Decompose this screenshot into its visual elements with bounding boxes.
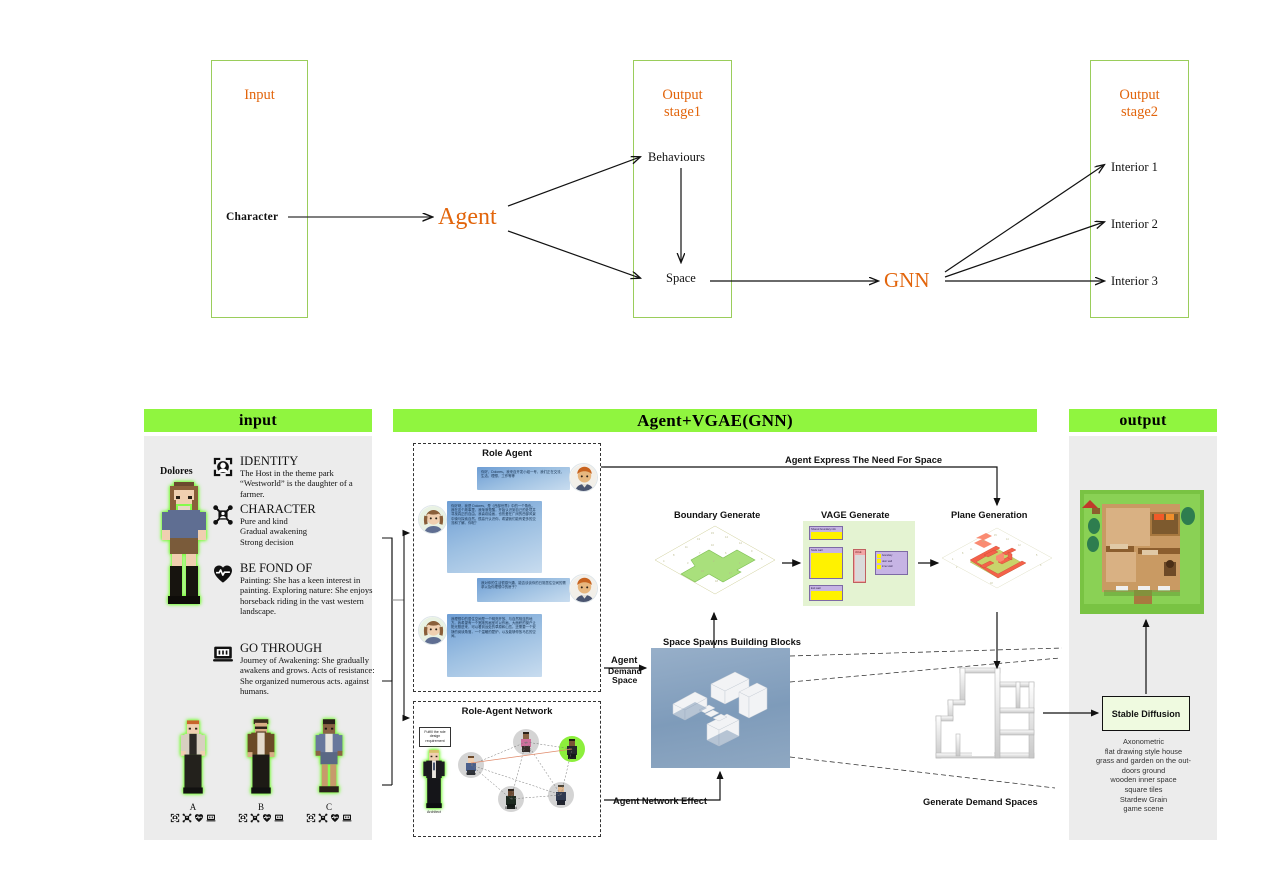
role-agent-network-title: Role-Agent Network xyxy=(414,706,600,717)
roster-item-c[interactable]: C xyxy=(294,718,364,823)
heart-pulse-icon xyxy=(194,813,204,823)
vage-legend-0: boundary xyxy=(882,554,892,557)
svg-text:12: 12 xyxy=(739,541,742,545)
band-header-middle: Agent+VGAE(GNN) xyxy=(393,409,1037,432)
generate-demand-spaces-floorplan xyxy=(912,648,1057,793)
svg-text:3: 3 xyxy=(687,561,689,565)
svg-text:8: 8 xyxy=(962,552,964,555)
attr-go-through-body: Journey of Awakening: She gradually awak… xyxy=(240,655,375,697)
band-header-output: output xyxy=(1069,409,1217,432)
chat-bubble-3[interactable]: 我对你的生活很感兴趣，能否谈谈你的日常居住空间的需求以及你理想中的房子？ xyxy=(477,578,570,602)
node-interior-2: Interior 2 xyxy=(1111,217,1158,232)
label-agent-demand-line3: Space xyxy=(612,675,637,685)
roster-item-a[interactable]: A xyxy=(158,718,228,823)
vage-legend-1: door wall xyxy=(882,560,892,563)
network-node-maeve[interactable]: Maeve xyxy=(458,752,484,778)
top-output-stage1-title: Output stage1 xyxy=(634,87,731,121)
journal-icon xyxy=(206,813,216,823)
prompt-line-1: flat drawing style house xyxy=(1073,747,1214,757)
architect-sprite xyxy=(419,748,449,810)
svg-text:18: 18 xyxy=(990,582,993,585)
chat-bubble-1[interactable]: 你好，Dolores。我来自开发小组一号，我们正在交流，生活，理想，工作等等 xyxy=(477,467,570,490)
figure-canvas: Input Output stage1 Output stage2 Charac… xyxy=(0,0,1267,896)
attr-identity-title: IDENTITY xyxy=(240,454,298,469)
svg-text:4: 4 xyxy=(663,559,665,563)
svg-text:3: 3 xyxy=(1040,564,1042,567)
identity-icon xyxy=(170,813,180,823)
prompt-line-5: square tiles xyxy=(1073,785,1214,795)
vage-card-title-0: Shared boundary info xyxy=(810,527,842,531)
label-agent-network-effect: Agent Network Effect xyxy=(613,796,707,806)
node-behaviours: Behaviours xyxy=(648,150,705,165)
network-node-ford[interactable]: Ford xyxy=(548,782,574,808)
attr-character-title: CHARACTER xyxy=(240,502,316,517)
identity-icon xyxy=(212,456,234,478)
attr-go-through-title: GO THROUGH xyxy=(240,641,322,656)
roster-label-b: B xyxy=(226,802,296,812)
attr-be-fond-of-body: Painting: She has a keen interest in pai… xyxy=(240,575,375,617)
stage1-title-line1: Output xyxy=(662,87,702,103)
stage1-title-line2: stage1 xyxy=(664,104,701,120)
prompt-line-3: doors ground xyxy=(1073,766,1214,776)
roster-icons-c xyxy=(294,813,364,823)
network-node-label-teddy: Teddy xyxy=(513,749,539,753)
heart-pulse-icon xyxy=(212,563,234,585)
character-name: Dolores xyxy=(160,466,193,477)
label-plane-generation: Plane Generation xyxy=(951,510,1027,520)
avatar-dolores-2[interactable] xyxy=(418,616,447,645)
label-generate-demand-spaces: Generate Demand Spaces xyxy=(923,797,1038,807)
avatar-user-2[interactable] xyxy=(569,574,598,603)
svg-text:10: 10 xyxy=(711,543,714,547)
vage-card-title-2: Exit wall xyxy=(810,586,842,590)
vage-generate-panel: Shared boundary info Node wall Exit wall… xyxy=(803,521,915,606)
roster-label-c: C xyxy=(294,802,364,812)
roster-icons-b xyxy=(226,813,296,823)
svg-text:5: 5 xyxy=(1036,554,1038,557)
stage2-title-line1: Output xyxy=(1119,87,1159,103)
stable-diffusion-box[interactable]: Stable Diffusion xyxy=(1102,696,1190,731)
journal-icon xyxy=(274,813,284,823)
label-agent-express: Agent Express The Need For Space xyxy=(785,455,942,465)
attr-be-fond-of-title: BE FOND OF xyxy=(240,561,312,576)
vage-legend-card: boundary door wall inner wall xyxy=(875,551,908,575)
heart-pulse-icon xyxy=(262,813,272,823)
space-spawns-building-blocks-image xyxy=(651,648,790,768)
vage-card-title-3: VAGE xyxy=(854,550,865,554)
roster-label-a: A xyxy=(158,802,228,812)
top-input-box: Input xyxy=(211,60,308,318)
roster-sprite-c xyxy=(308,718,350,796)
svg-text:12: 12 xyxy=(1018,544,1021,547)
network-node-label-maeve: Maeve xyxy=(458,772,484,776)
top-output-stage2-title: Output stage2 xyxy=(1091,87,1188,121)
network-node-label-bernard: Bernard xyxy=(498,806,524,810)
svg-text:9: 9 xyxy=(751,549,753,553)
network-node-label-ford: Ford xyxy=(548,802,574,806)
vage-card-exit-wall: Exit wall xyxy=(809,585,843,601)
role-agent-title: Role Agent xyxy=(414,448,600,459)
network-node-bernard[interactable]: Bernard xyxy=(498,786,524,812)
avatar-user-1[interactable] xyxy=(569,463,598,492)
prompt-line-2: grass and garden on the out- xyxy=(1073,756,1214,766)
prompt-line-7: game scene xyxy=(1073,804,1214,814)
character-icon xyxy=(250,813,260,823)
roster-sprite-a xyxy=(172,718,214,796)
svg-text:15: 15 xyxy=(711,531,714,535)
network-note: Fulfill the role design requirement xyxy=(419,727,451,747)
svg-text:5: 5 xyxy=(761,557,763,561)
vage-card-vage: VAGE xyxy=(853,549,866,583)
character-roster: A xyxy=(144,718,372,838)
character-icon xyxy=(182,813,192,823)
architect-label: Architect xyxy=(414,810,454,814)
svg-text:11: 11 xyxy=(970,548,973,551)
network-node-label-host: Host xyxy=(559,756,585,760)
identity-icon xyxy=(306,813,316,823)
svg-text:14: 14 xyxy=(725,535,728,539)
svg-text:11: 11 xyxy=(685,545,688,549)
roster-item-b[interactable]: B xyxy=(226,718,296,823)
vage-card-node-wall: Node wall xyxy=(809,547,843,579)
node-space: Space xyxy=(666,271,696,286)
stage2-title-line2: stage2 xyxy=(1121,104,1158,120)
prompt-line-0: Axonometric xyxy=(1073,737,1214,747)
journal-icon xyxy=(342,813,352,823)
network-node-teddy[interactable]: Teddy xyxy=(513,729,539,755)
chat-bubble-4[interactable]: 我理想中的居住空间是一个明亮开放、与自然相连的地方。我希望有一个宽敞的画室可以作… xyxy=(447,614,542,677)
chat-bubble-2[interactable]: 你好呀，我是 Dolores，是《西部世界》中的一个角色。我在这个故事里，我渐渐… xyxy=(447,501,542,573)
svg-text:18: 18 xyxy=(715,579,718,583)
node-character: Character xyxy=(226,211,278,223)
network-node-host[interactable]: Host xyxy=(559,736,585,762)
label-space-spawns-building-blocks: Space Spawns Building Blocks xyxy=(663,637,801,647)
roster-sprite-b xyxy=(240,718,282,796)
roster-icons-a xyxy=(158,813,228,823)
vage-card-title-1: Node wall xyxy=(810,548,842,552)
label-boundary-generate: Boundary Generate xyxy=(674,510,760,520)
prompt-line-6: Stardew Grain xyxy=(1073,795,1214,805)
node-gnn: GNN xyxy=(884,268,930,293)
label-agent-demand-line1: Agent xyxy=(611,655,637,665)
label-vage-generate: VAGE Generate xyxy=(821,510,890,520)
band-header-input: input xyxy=(144,409,372,432)
svg-text:8: 8 xyxy=(673,553,675,557)
character-icon xyxy=(318,813,328,823)
svg-text:4: 4 xyxy=(952,558,954,561)
node-agent: Agent xyxy=(438,204,497,231)
avatar-dolores-1[interactable] xyxy=(418,505,447,534)
journal-icon xyxy=(212,643,234,665)
svg-text:13: 13 xyxy=(697,537,700,541)
attr-character-body: Pure and kind Gradual awakening Strong d… xyxy=(240,516,375,547)
stable-diffusion-prompt: Axonometric flat drawing style house gra… xyxy=(1073,737,1214,814)
node-interior-1: Interior 1 xyxy=(1111,160,1158,175)
boundary-isometric-diagram: 151413 121110 987 654 321 161718 xyxy=(651,522,779,612)
vage-legend-2: inner wall xyxy=(882,565,893,568)
dolores-sprite xyxy=(158,478,210,606)
prompt-line-4: wooden inner space xyxy=(1073,775,1214,785)
svg-text:14: 14 xyxy=(1006,538,1009,541)
top-input-title: Input xyxy=(212,87,307,104)
identity-icon xyxy=(238,813,248,823)
plane-generation-diagram: 151413 12118 543 218 xyxy=(940,522,1055,610)
svg-text:15: 15 xyxy=(994,534,997,537)
output-game-scene-image xyxy=(1080,490,1204,614)
node-interior-3: Interior 3 xyxy=(1111,274,1158,289)
vage-card-shared-boundary: Shared boundary info xyxy=(809,526,843,540)
svg-text:6: 6 xyxy=(725,551,727,555)
heart-pulse-icon xyxy=(330,813,340,823)
attr-identity-body: The Host in the theme park “Westworld” i… xyxy=(240,468,375,499)
character-icon xyxy=(212,504,234,526)
